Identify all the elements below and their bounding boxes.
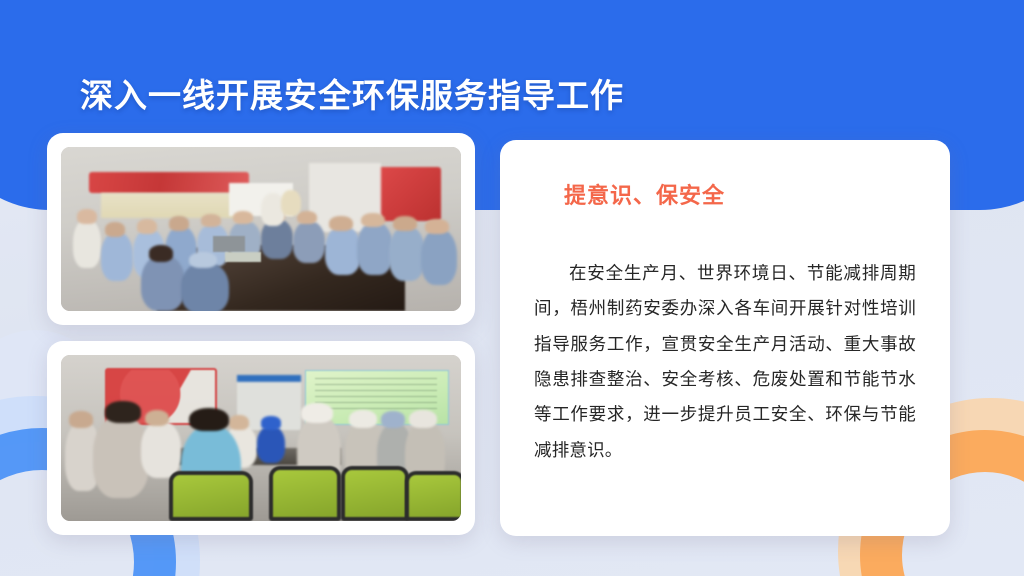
photo-card-training-room xyxy=(47,341,475,535)
text-card-heading: 提意识、保安全 xyxy=(564,178,916,210)
photo-card-meeting-room xyxy=(47,133,475,325)
text-content-card: 提意识、保安全 在安全生产月、世界环境日、节能减排周期间，梧州制药安委办深入各车… xyxy=(500,140,950,536)
text-card-body: 在安全生产月、世界环境日、节能减排周期间，梧州制药安委办深入各车间开展针对性培训… xyxy=(534,256,916,468)
photo-training-room xyxy=(61,355,461,521)
page-title: 深入一线开展安全环保服务指导工作 xyxy=(80,76,624,116)
slide-root: 深入一线开展安全环保服务指导工作 xyxy=(0,0,1024,576)
photo-meeting-room xyxy=(61,147,461,311)
